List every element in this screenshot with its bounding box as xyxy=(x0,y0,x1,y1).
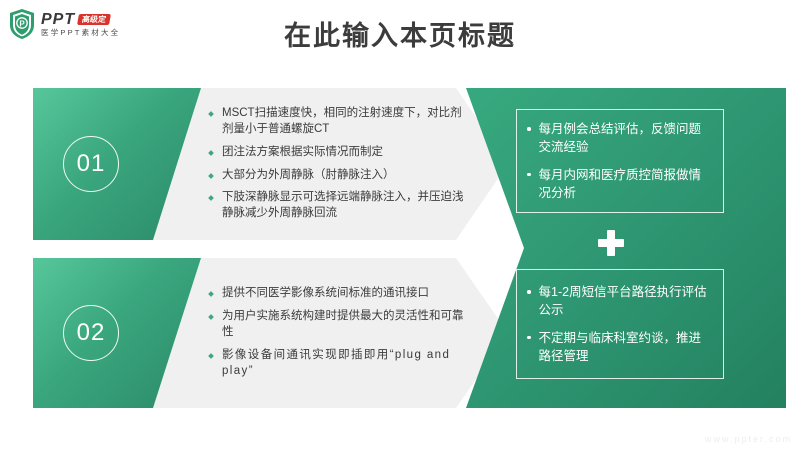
bullet-dot-icon xyxy=(208,173,214,179)
plus-icon xyxy=(596,228,626,258)
bullet-dot-icon xyxy=(527,127,531,131)
list-item: MSCT扫描速度快，相同的注射速度下，对比剂剂量小于普通螺旋CT xyxy=(209,106,464,138)
bullet-dot-icon xyxy=(527,290,531,294)
number-badge-01: 01 xyxy=(33,88,201,240)
list-item-text: 提供不同医学影像系统间标准的通讯接口 xyxy=(222,286,464,302)
content-arrow-block-02: 02 提供不同医学影像系统间标准的通讯接口 为用户实施系统构建时提供最大的灵活性… xyxy=(33,258,508,408)
badge-number-label: 02 xyxy=(63,305,119,361)
bullet-dot-icon xyxy=(527,336,531,340)
list-item: 下肢深静脉显示可选择远端静脉注入，并压迫浅静脉减少外周静脉回流 xyxy=(209,190,464,222)
bullet-list-01: MSCT扫描速度快，相同的注射速度下，对比剂剂量小于普通螺旋CT 团注法方案根据… xyxy=(209,88,464,240)
list-item-text: 大部分为外周静脉（肘静脉注入） xyxy=(222,168,464,184)
content-arrow-block-01: 01 MSCT扫描速度快，相同的注射速度下，对比剂剂量小于普通螺旋CT 团注法方… xyxy=(33,88,508,240)
outcome-box-2: 每1-2周短信平台路径执行评估公示 不定期与临床科室约谈，推进路径管理 xyxy=(516,269,724,379)
badge-number-label: 01 xyxy=(63,136,119,192)
slide-canvas: P PPT 高级定 医学PPT素材大全 在此输入本页标题 01 MSCT扫描速度… xyxy=(0,0,800,450)
bullet-dot-icon xyxy=(208,314,214,320)
bullet-dot-icon xyxy=(208,111,214,117)
list-item: 影像设备间通讯实现即插即用“plug and play” xyxy=(209,348,464,380)
list-item-text: 每1-2周短信平台路径执行评估公示 xyxy=(539,283,712,319)
list-item-text: 每月例会总结评估，反馈问题交流经验 xyxy=(539,120,712,156)
bullet-dot-icon xyxy=(208,150,214,156)
outcome-box-1: 每月例会总结评估，反馈问题交流经验 每月内网和医疗质控简报做情况分析 xyxy=(516,109,724,213)
bullet-dot-icon xyxy=(527,173,531,177)
list-item: 为用户实施系统构建时提供最大的灵活性和可靠性 xyxy=(209,309,464,341)
list-item: 不定期与临床科室约谈，推进路径管理 xyxy=(527,329,711,365)
list-item-text: 为用户实施系统构建时提供最大的灵活性和可靠性 xyxy=(222,309,464,341)
page-title: 在此输入本页标题 xyxy=(0,14,800,53)
list-item-text: 不定期与临床科室约谈，推进路径管理 xyxy=(539,329,712,365)
right-green-panel: 每月例会总结评估，反馈问题交流经验 每月内网和医疗质控简报做情况分析 每1-2周… xyxy=(466,88,786,408)
bullet-dot-icon xyxy=(208,353,214,359)
bullet-dot-icon xyxy=(208,292,214,298)
list-item: 团注法方案根据实际情况而制定 xyxy=(209,145,464,161)
bullet-dot-icon xyxy=(208,196,214,202)
bullet-list-02: 提供不同医学影像系统间标准的通讯接口 为用户实施系统构建时提供最大的灵活性和可靠… xyxy=(209,258,464,408)
list-item-text: 团注法方案根据实际情况而制定 xyxy=(222,145,464,161)
list-item: 每月例会总结评估，反馈问题交流经验 xyxy=(527,120,711,156)
watermark: www.ppter.com xyxy=(705,434,792,444)
number-badge-02: 02 xyxy=(33,258,201,408)
list-item: 大部分为外周静脉（肘静脉注入） xyxy=(209,168,464,184)
list-item-text: 影像设备间通讯实现即插即用“plug and play” xyxy=(222,348,464,380)
list-item-text: 下肢深静脉显示可选择远端静脉注入，并压迫浅静脉减少外周静脉回流 xyxy=(222,190,464,222)
list-item: 提供不同医学影像系统间标准的通讯接口 xyxy=(209,286,464,302)
list-item-text: 每月内网和医疗质控简报做情况分析 xyxy=(539,166,712,202)
list-item: 每月内网和医疗质控简报做情况分析 xyxy=(527,166,711,202)
list-item: 每1-2周短信平台路径执行评估公示 xyxy=(527,283,711,319)
list-item-text: MSCT扫描速度快，相同的注射速度下，对比剂剂量小于普通螺旋CT xyxy=(222,106,464,138)
